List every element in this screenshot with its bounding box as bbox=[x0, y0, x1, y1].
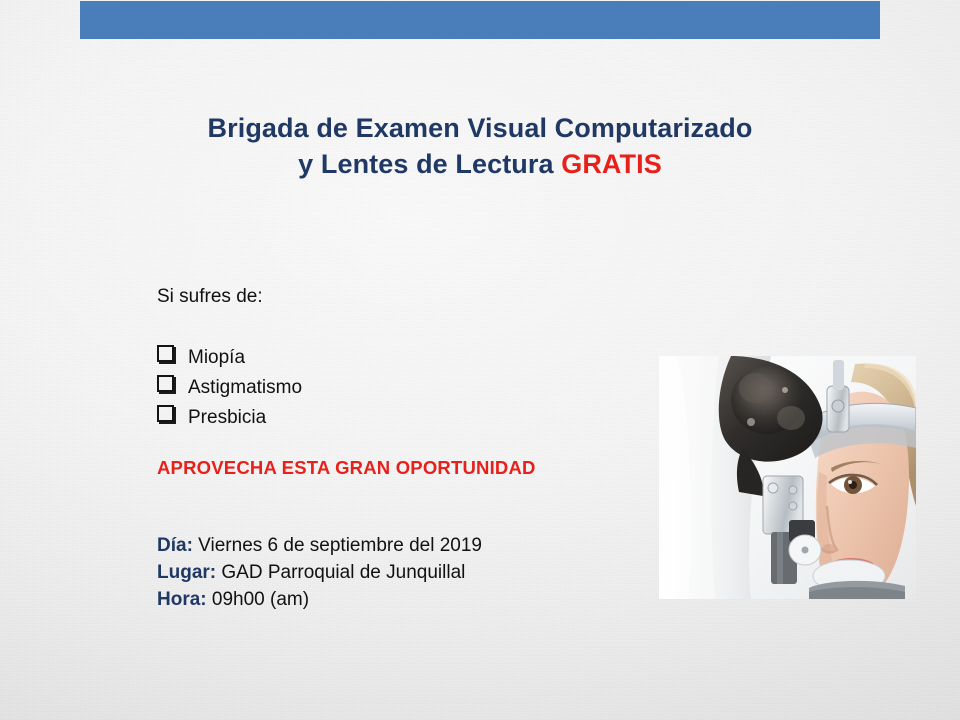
title-line-1: Brigada de Examen Visual Computarizado bbox=[80, 110, 880, 146]
title-line-2-text: y Lentes de Lectura bbox=[298, 149, 561, 179]
detail-row-time: Hora: 09h00 (am) bbox=[157, 586, 482, 613]
slide-canvas: Brigada de Examen Visual Computarizado y… bbox=[0, 0, 960, 720]
list-item-label: Astigmatismo bbox=[188, 373, 302, 403]
detail-value: GAD Parroquial de Junquillal bbox=[216, 562, 465, 583]
event-details: Día: Viernes 6 de septiembre del 2019 Lu… bbox=[157, 532, 482, 613]
body-content: Si sufres de: Miopía Astigmatismo Presbi… bbox=[157, 285, 657, 309]
eye-exam-photo bbox=[659, 356, 916, 599]
top-accent-bar bbox=[80, 1, 880, 39]
call-to-action-text: APROVECHA ESTA GRAN OPORTUNIDAD bbox=[157, 457, 536, 479]
checkbox-square-icon bbox=[157, 405, 174, 422]
detail-row-day: Día: Viernes 6 de septiembre del 2019 bbox=[157, 532, 482, 559]
list-item: Astigmatismo bbox=[157, 373, 302, 403]
list-item-label: Miopía bbox=[188, 343, 245, 373]
title-line-2: y Lentes de Lectura GRATIS bbox=[80, 146, 880, 182]
page-title: Brigada de Examen Visual Computarizado y… bbox=[80, 110, 880, 182]
detail-row-place: Lugar: GAD Parroquial de Junquillal bbox=[157, 559, 482, 586]
detail-value: 09h00 (am) bbox=[207, 589, 309, 610]
checkbox-square-icon bbox=[157, 375, 174, 392]
detail-value: Viernes 6 de septiembre del 2019 bbox=[193, 535, 482, 556]
list-item: Presbicia bbox=[157, 403, 302, 433]
title-highlight-gratis: GRATIS bbox=[561, 149, 662, 179]
detail-label: Día: bbox=[157, 535, 193, 556]
list-item-label: Presbicia bbox=[188, 403, 266, 433]
detail-label: Lugar: bbox=[157, 562, 216, 583]
lead-text: Si sufres de: bbox=[157, 285, 657, 309]
symptom-list: Miopía Astigmatismo Presbicia bbox=[157, 343, 302, 433]
detail-label: Hora: bbox=[157, 589, 207, 610]
checkbox-square-icon bbox=[157, 345, 174, 362]
list-item: Miopía bbox=[157, 343, 302, 373]
